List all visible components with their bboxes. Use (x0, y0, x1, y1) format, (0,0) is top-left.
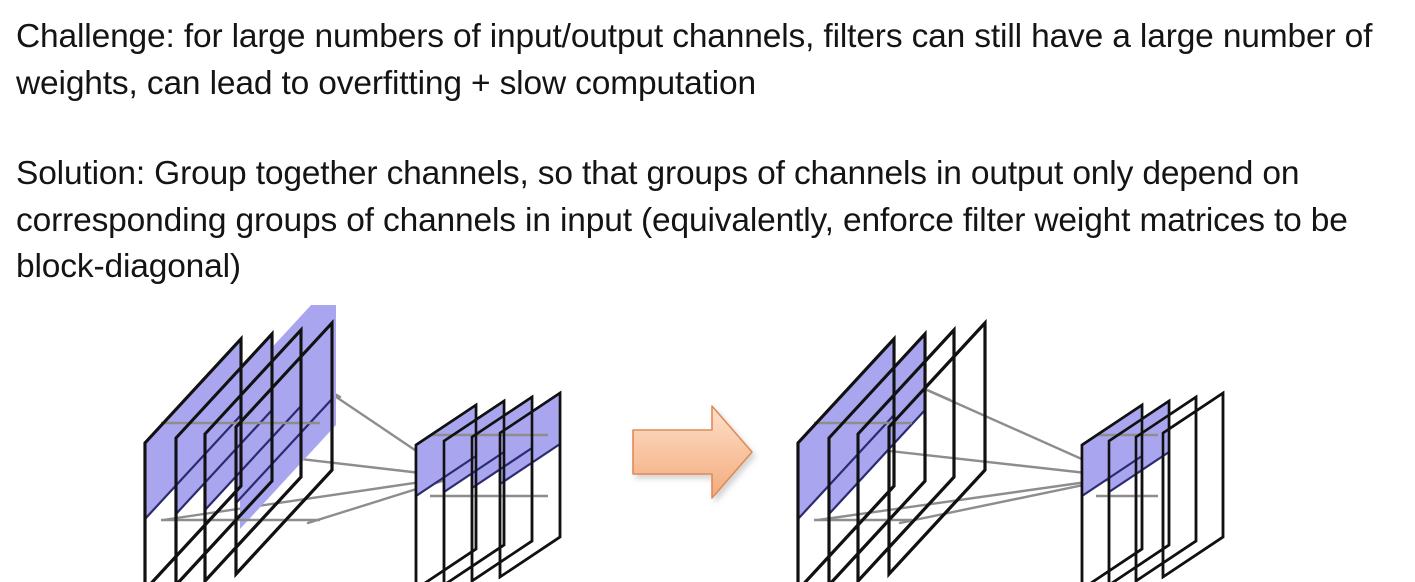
solution-paragraph: Solution: Group together channels, so th… (16, 151, 1376, 291)
transition-arrow (633, 406, 752, 498)
right-output-plane-4 (1163, 393, 1223, 577)
left-diagram-standard-convolution (145, 305, 560, 582)
right-diagram-grouped-convolution (798, 305, 1223, 582)
slide-canvas: Challenge: for large numbers of input/ou… (0, 0, 1415, 582)
grouped-convolution-figure (0, 305, 1415, 582)
slide-text-block: Challenge: for large numbers of input/ou… (16, 14, 1406, 291)
challenge-paragraph: Challenge: for large numbers of input/ou… (16, 14, 1396, 107)
